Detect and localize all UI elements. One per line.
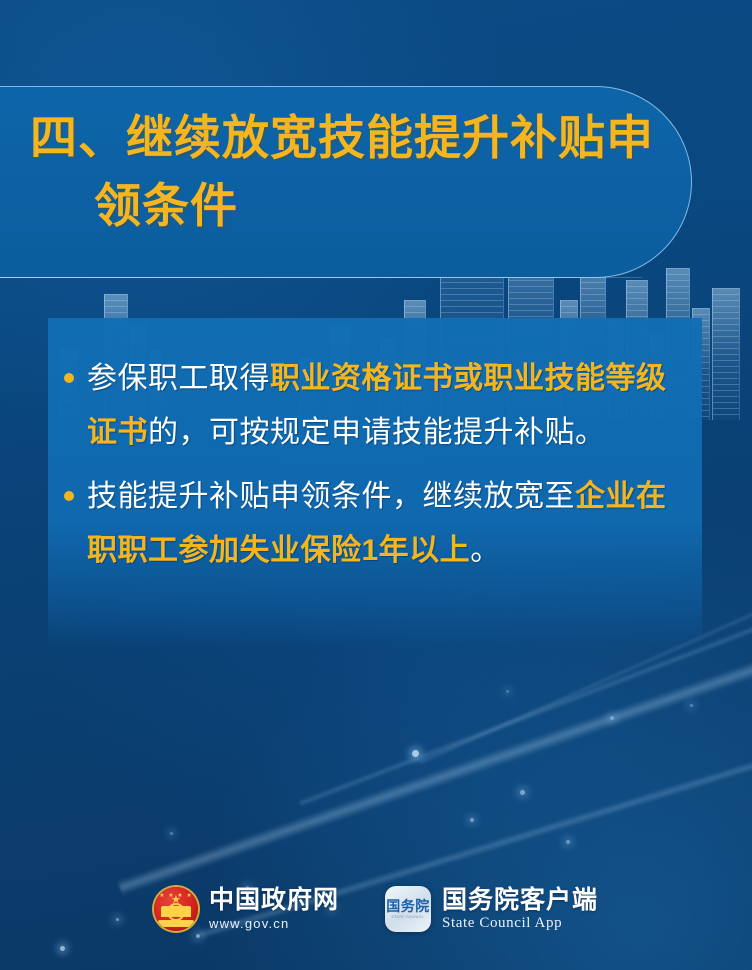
bullet-list: 参保职工取得职业资格证书或职业技能等级证书的，可按规定申请技能提升补贴。 技能提… [64,352,674,588]
app-icon-label-cn: 国务院 [386,899,430,914]
app-name-en: State Council App [442,915,598,932]
app-brand[interactable]: 国务院 STATE COUNCIL 国务院客户端 State Council A… [385,886,598,932]
state-council-app-icon: 国务院 STATE COUNCIL [385,886,431,932]
title-line-1: 四、继续放宽技能提升补贴申 [30,111,654,164]
gov-brand[interactable]: ★ ★ ★ ★ ★ 中国政府网 www.gov.cn [154,886,339,932]
title-line-2: 领条件 [30,172,670,240]
gov-name-en: www.gov.cn [209,915,339,932]
list-item: 技能提升补贴申领条件，继续放宽至企业在职职工参加失业保险1年以上。 [64,470,674,578]
emblem-base [158,920,193,927]
bullet-text: 技能提升补贴申领条件，继续放宽至企业在职职工参加失业保险1年以上。 [87,470,674,578]
emblem-cog [167,903,185,921]
plain-text: 技能提升补贴申领条件，继续放宽至 [87,480,575,513]
app-icon-label-en: STATE COUNCIL [392,914,424,920]
bullet-dot-icon [64,491,74,501]
app-name-cn: 国务院客户端 [442,886,598,915]
poster-root: 四、继续放宽技能提升补贴申 领条件 参保职工取得职业资格证书或职业技能等级证书的… [0,0,752,970]
page-title: 四、继续放宽技能提升补贴申 领条件 [30,104,670,240]
gov-name-cn: 中国政府网 [209,886,339,915]
bullet-dot-icon [64,373,74,383]
title-underline [0,277,642,278]
plain-text: 。 [470,534,501,567]
plain-text: 的，可按规定申请技能提升补贴。 [148,416,606,449]
app-brand-text: 国务院客户端 State Council App [442,886,598,932]
plain-text: 参保职工取得 [87,362,270,395]
list-item: 参保职工取得职业资格证书或职业技能等级证书的，可按规定申请技能提升补贴。 [64,352,674,460]
footer-brands: ★ ★ ★ ★ ★ 中国政府网 www.gov.cn 国务院 STATE COU… [0,886,752,932]
gov-brand-text: 中国政府网 www.gov.cn [209,886,339,932]
national-emblem-icon: ★ ★ ★ ★ ★ [154,887,198,931]
bullet-text: 参保职工取得职业资格证书或职业技能等级证书的，可按规定申请技能提升补贴。 [87,352,674,460]
